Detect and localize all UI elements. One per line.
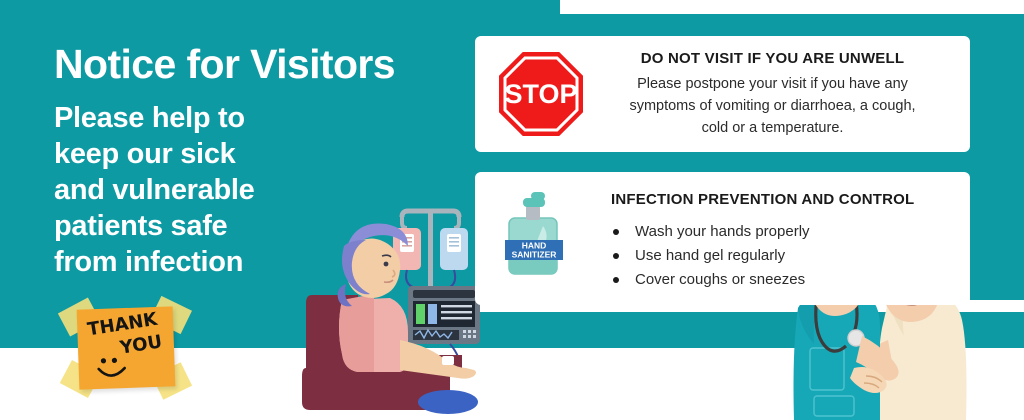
card-ipc-text: INFECTION PREVENTION AND CONTROL Wash yo… bbox=[577, 176, 954, 292]
stop-sign-label: STOP bbox=[504, 79, 577, 109]
list-item-label: Use hand gel regularly bbox=[635, 247, 785, 264]
list-item-label: Cover coughs or sneezes bbox=[635, 271, 805, 288]
card-do-not-visit-if-unwell: STOP DO NOT VISIT IF YOU ARE UNWELL Plea… bbox=[475, 36, 970, 152]
subtitle-line: and vulnerable bbox=[54, 172, 354, 208]
card-unwell-heading: DO NOT VISIT IF YOU ARE UNWELL bbox=[593, 49, 952, 69]
card-unwell-body-line: Please postpone your visit if you have a… bbox=[593, 73, 952, 95]
smiley-face-icon bbox=[92, 354, 137, 384]
list-item: Cover coughs or sneezes bbox=[611, 268, 954, 292]
subtitle-line: keep our sick bbox=[54, 136, 354, 172]
card-unwell-body: Please postpone your visit if you have a… bbox=[593, 73, 952, 139]
hand-sanitizer-icon-wrap: HAND SANITIZER bbox=[491, 188, 577, 280]
list-item-label: Wash your hands properly bbox=[635, 223, 810, 240]
card-unwell-body-line: cold or a temperature. bbox=[593, 117, 952, 139]
visitor-notice-poster: Notice for Visitors Please help to keep … bbox=[0, 0, 1024, 420]
bullet-dot-icon bbox=[613, 277, 619, 283]
stop-sign-icon-wrap: STOP bbox=[489, 51, 593, 137]
bullet-dot-icon bbox=[613, 229, 619, 235]
white-top-right-notch bbox=[560, 0, 1024, 14]
card-ipc-heading: INFECTION PREVENTION AND CONTROL bbox=[611, 190, 954, 210]
sticky-note-text: THANK YOU bbox=[77, 306, 176, 389]
bullet-dot-icon bbox=[613, 253, 619, 259]
thank-you-sticky-note: THANK YOU bbox=[68, 302, 183, 394]
card-infection-prevention-and-control: HAND SANITIZER INFECTION PREVENTION AND … bbox=[475, 172, 970, 305]
stop-sign-icon: STOP bbox=[498, 51, 584, 137]
list-item: Use hand gel regularly bbox=[611, 244, 954, 268]
card-ipc-bullet-list: Wash your hands properly Use hand gel re… bbox=[577, 220, 954, 292]
page-title: Notice for Visitors bbox=[54, 42, 395, 86]
list-item: Wash your hands properly bbox=[611, 220, 954, 244]
subtitle-line: Please help to bbox=[54, 100, 354, 136]
card-unwell-text: DO NOT VISIT IF YOU ARE UNWELL Please po… bbox=[593, 49, 952, 139]
sticky-note-paper: THANK YOU bbox=[77, 306, 176, 389]
card-unwell-body-line: symptoms of vomiting or diarrhoea, a cou… bbox=[593, 95, 952, 117]
subtitle-line: from infection bbox=[54, 244, 354, 280]
subtitle-line: patients safe bbox=[54, 208, 354, 244]
hand-sanitizer-icon: HAND SANITIZER bbox=[501, 188, 567, 280]
page-subtitle: Please help to keep our sick and vulnera… bbox=[54, 100, 354, 280]
sanitizer-label-line2: SANITIZER bbox=[512, 250, 557, 260]
